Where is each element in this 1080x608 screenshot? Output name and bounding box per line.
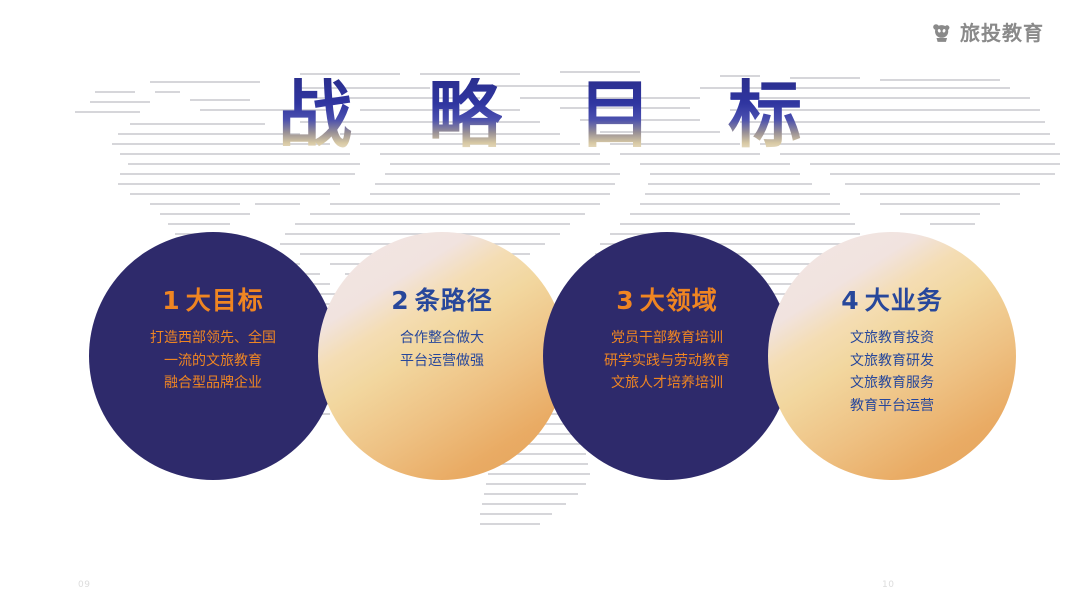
circle-3-number: 3 xyxy=(616,286,634,315)
circle-4-body: 文旅教育投资 文旅教育研发 文旅教育服务 教育平台运营 xyxy=(850,327,934,418)
circle-1-heading: 1大目标 xyxy=(162,288,263,313)
circle-2-body: 合作整合做大 平台运营做强 xyxy=(400,327,484,372)
title-char-1: 战 xyxy=(278,78,352,152)
circle-group: 1大目标 打造西部领先、全国 一流的文旅教育 融合型品牌企业 2条路径 合作整合… xyxy=(0,232,1080,482)
page-number-right: 10 xyxy=(882,580,894,590)
circle-2-number: 2 xyxy=(391,286,409,315)
circle-card-1[interactable]: 1大目标 打造西部领先、全国 一流的文旅教育 融合型品牌企业 xyxy=(89,232,337,480)
circle-1-line-3: 融合型品牌企业 xyxy=(150,372,276,395)
circle-1-number: 1 xyxy=(162,286,180,315)
circle-2-line-1: 合作整合做大 xyxy=(400,327,484,350)
panda-logo-icon xyxy=(931,22,953,44)
circle-4-line-4: 教育平台运营 xyxy=(850,395,934,418)
circle-card-2[interactable]: 2条路径 合作整合做大 平台运营做强 xyxy=(318,232,566,480)
brand-logo: 旅投教育 xyxy=(931,22,1044,44)
circle-3-body: 党员干部教育培训 研学实践与劳动教育 文旅人才培养培训 xyxy=(604,327,730,395)
title-char-2: 略 xyxy=(428,78,502,152)
circle-4-heading: 4大业务 xyxy=(841,288,942,313)
circle-3-line-2: 研学实践与劳动教育 xyxy=(604,350,730,373)
circle-card-4[interactable]: 4大业务 文旅教育投资 文旅教育研发 文旅教育服务 教育平台运营 xyxy=(768,232,1016,480)
circle-3-heading: 3大领域 xyxy=(616,288,717,313)
circle-3-line-1: 党员干部教育培训 xyxy=(604,327,730,350)
title-char-4: 标 xyxy=(728,78,802,152)
slide-canvas: 旅投教育 战略目标 1大目标 打造西部领先、全国 一流的文旅教育 融合型品牌企业… xyxy=(0,0,1080,608)
circle-2-heading: 2条路径 xyxy=(391,288,492,313)
circle-1-body: 打造西部领先、全国 一流的文旅教育 融合型品牌企业 xyxy=(150,327,276,395)
title-char-3: 目 xyxy=(578,78,652,152)
page-title: 战略目标 xyxy=(0,78,1080,152)
circle-3-line-3: 文旅人才培养培训 xyxy=(604,372,730,395)
circle-3-heading-text: 大领域 xyxy=(640,286,718,315)
circle-4-line-3: 文旅教育服务 xyxy=(850,372,934,395)
circle-4-line-2: 文旅教育研发 xyxy=(850,350,934,373)
circle-card-3[interactable]: 3大领域 党员干部教育培训 研学实践与劳动教育 文旅人才培养培训 xyxy=(543,232,791,480)
circle-4-heading-text: 大业务 xyxy=(865,286,943,315)
circle-2-line-2: 平台运营做强 xyxy=(400,350,484,373)
circle-1-heading-text: 大目标 xyxy=(186,286,264,315)
circle-1-line-1: 打造西部领先、全国 xyxy=(150,327,276,350)
page-number-left: 09 xyxy=(78,580,90,590)
brand-name: 旅投教育 xyxy=(960,23,1044,43)
circle-4-number: 4 xyxy=(841,286,859,315)
circle-4-line-1: 文旅教育投资 xyxy=(850,327,934,350)
circle-1-line-2: 一流的文旅教育 xyxy=(150,350,276,373)
circle-2-heading-text: 条路径 xyxy=(415,286,493,315)
